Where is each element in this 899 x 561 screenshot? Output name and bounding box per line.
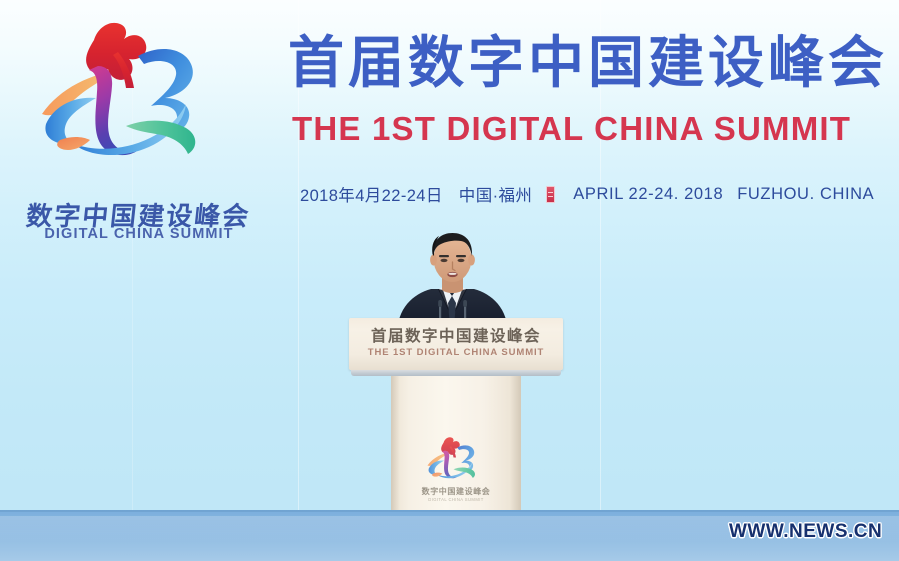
podium-body: 数字中国建设峰会 DIGITAL CHINA SUMMIT <box>391 376 521 527</box>
podium-sign-panel: 首届数字中国建设峰会 THE 1ST DIGITAL CHINA SUMMIT <box>349 318 563 370</box>
event-logo-cn-text: 数字中国建设峰会 <box>15 196 264 223</box>
news-watermark: WWW.NEWS.CN <box>729 521 882 543</box>
podium-sign-chinese: 首届数字中国建设峰会 <box>349 324 563 346</box>
headline-chinese: 首届数字中国建设峰会 <box>288 33 888 95</box>
podium-shade-left <box>391 376 400 527</box>
photo-scene: 数字中国建设峰会 DIGITAL CHINA SUMMIT 首届数字中国建设峰会… <box>0 0 899 561</box>
dateline-en-date: APRIL 22-24. 2018 <box>573 185 723 204</box>
event-logo-en-text: DIGITAL CHINA SUMMIT <box>16 226 262 242</box>
floor-horizon-line <box>0 510 899 512</box>
red-seal-icon <box>546 186 555 203</box>
dateline-cn-date: 2018年4月22-24日 <box>300 182 443 206</box>
podium-emblem-icon <box>425 428 487 490</box>
podium-shade-right <box>510 376 521 527</box>
podium-sign-english: THE 1ST DIGITAL CHINA SUMMIT <box>349 347 563 358</box>
podium-emblem-en-text: DIGITAL CHINA SUMMIT <box>428 497 483 502</box>
dateline-en-place: FUZHOU. CHINA <box>737 185 874 204</box>
dateline-cn-place: 中国·福州 <box>459 182 533 206</box>
podium-emblem-cn-text: 数字中国建设峰会 <box>422 486 491 497</box>
digital-china-summit-emblem-icon <box>34 18 234 168</box>
headline-english: THE 1ST DIGITAL CHINA SUMMIT <box>292 110 851 148</box>
dateline: 2018年4月22-24日 中国·福州 APRIL 22-24. 2018 FU… <box>300 182 874 206</box>
event-logo: 数字中国建设峰会 DIGITAL CHINA SUMMIT <box>8 18 268 228</box>
